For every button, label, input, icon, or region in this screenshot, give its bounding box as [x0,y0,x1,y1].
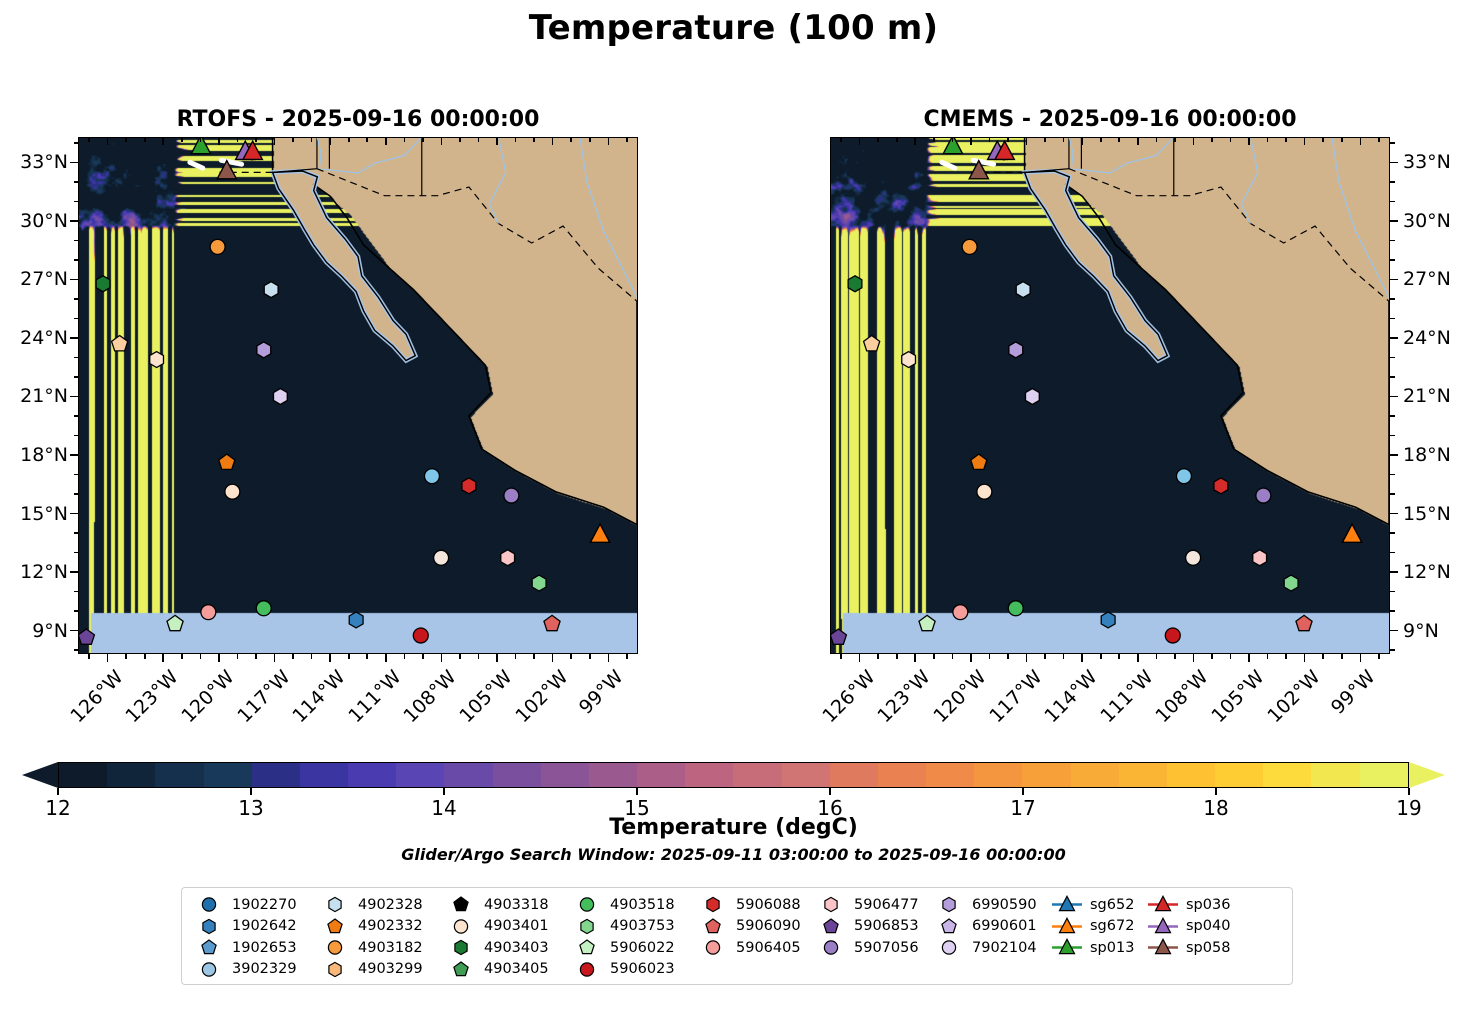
legend-item[interactable]: 1902270 [192,895,318,915]
legend-pentagon-icon [814,917,848,936]
colorbar-segment [974,763,1022,787]
y-tick-label: 24°N [1403,327,1451,349]
colorbar-segment [1167,763,1215,787]
x-tick-minor [311,137,313,142]
colorbar-segment [493,763,541,787]
x-tick-minor [1100,137,1102,142]
y-tick [1390,454,1398,456]
y-tick [70,454,78,456]
x-tick [385,137,387,145]
legend-pentagon-icon [318,917,352,936]
y-tick-minor [74,357,79,359]
legend-hexagon-icon [814,895,848,914]
y-tick [70,513,78,515]
legend-circle-icon [932,938,966,957]
x-tick-minor [570,137,572,142]
colorbar-tick [443,788,445,795]
x-tick [218,654,220,662]
y-tick-minor [1390,376,1395,378]
legend-item-label: sp013 [1090,940,1134,956]
x-tick [1137,137,1139,145]
y-tick-minor [74,181,79,183]
legend-item[interactable]: sg672 [1050,917,1146,937]
colorbar-tick [636,788,638,795]
panel-rtofs: RTOFS - 2025-09-16 00:00:00 [78,137,638,654]
colorbar-label: Temperature (degC) [0,815,1467,840]
legend-item-label: 5906477 [854,897,919,913]
x-tick-minor [1044,654,1046,659]
legend-triangle-line-icon [1050,895,1084,914]
colorbar-segment [252,763,300,787]
y-tick [70,571,78,573]
legend-item[interactable]: 4902328 [318,895,444,915]
y-tick-minor [74,201,79,203]
legend-item[interactable]: 6990601 [932,917,1050,937]
legend-item[interactable]: sp058 [1146,938,1242,958]
colorbar-segment [637,763,685,787]
x-tick [162,137,164,145]
x-tick-minor [1211,137,1213,142]
legend-item-label: 1902642 [232,918,297,934]
y-tick-label: 9°N [1403,620,1439,642]
x-tick-minor [459,137,461,142]
x-tick-minor [589,654,591,659]
legend-item-label: 4903753 [610,918,675,934]
x-tick-minor [292,137,294,142]
y-tick-minor [74,318,79,320]
y-tick [1390,220,1398,222]
legend-item[interactable]: 4903403 [444,938,570,958]
x-tick-minor [348,137,350,142]
colorbar-extend-low-icon [22,762,58,788]
legend-item[interactable]: 5906088 [696,895,814,915]
x-tick-minor [200,654,202,659]
x-tick-minor [1322,654,1324,659]
legend-item[interactable]: 5906022 [570,938,696,958]
x-tick [608,654,610,662]
y-tick-minor [74,298,79,300]
y-tick-label: 33°N [0,151,68,173]
x-tick [552,137,554,145]
legend-hexagon-icon [570,917,604,936]
legend-item[interactable]: 4903753 [570,917,696,937]
x-tick [329,137,331,145]
legend-hexagon-icon [192,917,226,936]
x-tick-minor [1156,654,1158,659]
x-tick-minor [1007,654,1009,659]
legend-item-label: 1902270 [232,897,297,913]
x-tick-minor [478,137,480,142]
x-tick-minor [933,137,935,142]
x-tick-minor [515,654,517,659]
y-tick-minor [1390,240,1395,242]
x-tick-minor [989,137,991,142]
legend: 1902270190264219026533902329490232849023… [181,887,1293,985]
x-tick [329,654,331,662]
y-tick [70,162,78,164]
colorbar-segment [1360,763,1408,787]
y-tick-minor [1390,474,1395,476]
y-tick-minor [74,376,79,378]
y-tick-minor [1390,298,1395,300]
x-tick-minor [181,654,183,659]
colorbar-segment [107,763,155,787]
colorbar-segment [1022,763,1070,787]
x-tick-minor [478,654,480,659]
legend-item-label: 6990601 [972,918,1037,934]
legend-pentagon-icon [696,917,730,936]
x-tick-minor [896,137,898,142]
legend-item[interactable]: 6990590 [932,895,1050,915]
x-tick-minor [1285,137,1287,142]
x-tick [859,137,861,145]
x-tick-minor [533,654,535,659]
y-tick-minor [1390,415,1395,417]
y-tick-minor [74,552,79,554]
x-tick [552,654,554,662]
legend-circle-icon [570,960,604,979]
legend-item[interactable]: 7902104 [932,938,1050,958]
panel-cmems: CMEMS - 2025-09-16 00:00:00 [830,137,1390,654]
legend-item-label: 4903182 [358,940,423,956]
legend-item-label: 4902328 [358,897,423,913]
x-tick-minor [952,137,954,142]
x-tick-minor [237,137,239,142]
y-tick-minor [74,610,79,612]
legend-item-label: 1902653 [232,940,297,956]
legend-item-label: 4903518 [610,897,675,913]
y-tick-minor [74,649,79,651]
legend-circle-icon [570,895,604,914]
y-tick-label: 15°N [0,503,68,525]
colorbar-segment [782,763,830,787]
x-tick-minor [181,137,183,142]
x-tick [914,137,916,145]
legend-item-label: 4903401 [484,918,549,934]
legend-item[interactable]: 4902332 [318,917,444,937]
colorbar-segment [926,763,974,787]
x-tick-minor [1378,137,1380,142]
x-tick [1026,137,1028,145]
x-tick-minor [1044,137,1046,142]
x-tick-minor [144,137,146,142]
legend-item[interactable]: 5906090 [696,917,814,937]
colorbar-tick [57,788,59,795]
legend-item-label: 4902332 [358,918,423,934]
figure-root: Temperature (100 m) RTOFS - 2025-09-16 0… [0,0,1467,1014]
x-tick [1248,137,1250,145]
y-tick-minor [74,142,79,144]
y-tick-minor [1390,142,1395,144]
x-tick-minor [952,654,954,659]
legend-item[interactable]: sp036 [1146,895,1242,915]
colorbar-segment [541,763,589,787]
x-tick-minor [1100,654,1102,659]
y-tick-label: 27°N [0,268,68,290]
colorbar-segment [830,763,878,787]
y-tick-minor [1390,610,1395,612]
x-tick-minor [1211,654,1213,659]
x-tick-minor [1174,654,1176,659]
colorbar-segment [59,763,107,787]
legend-pentagon-icon [932,917,966,936]
x-tick [1026,654,1028,662]
legend-item[interactable]: 1902642 [192,917,318,937]
y-tick-minor [1390,201,1395,203]
y-tick-minor [1390,435,1395,437]
legend-pentagon-icon [444,960,478,979]
y-tick-label: 30°N [0,210,68,232]
x-tick-minor [989,654,991,659]
x-tick [496,654,498,662]
x-tick [1193,654,1195,662]
legend-column: sg652sg672sp013 [1050,895,1146,958]
x-tick [1081,137,1083,145]
y-tick-minor [74,493,79,495]
legend-item-label: 4903403 [484,940,549,956]
legend-circle-icon [192,895,226,914]
colorbar-segment [300,763,348,787]
legend-item[interactable]: 4903401 [444,917,570,937]
x-tick-minor [840,654,842,659]
legend-item[interactable]: 5906853 [814,917,932,937]
colorbar-segment [878,763,926,787]
x-tick-minor [589,137,591,142]
legend-item-label: sg672 [1090,918,1134,934]
y-tick-minor [74,240,79,242]
x-tick [162,654,164,662]
x-tick-minor [366,137,368,142]
legend-item-label: sp040 [1186,918,1230,934]
panel-title-rtofs: RTOFS - 2025-09-16 00:00:00 [78,107,638,132]
legend-column: 699059069906017902104 [932,895,1050,958]
legend-item-label: sg652 [1090,897,1134,913]
x-tick-minor [1341,137,1343,142]
map-rtofs[interactable] [78,137,638,654]
x-tick-minor [877,137,879,142]
y-tick-minor [1390,591,1395,593]
map-cmems[interactable] [830,137,1390,654]
x-tick-minor [200,137,202,142]
legend-item[interactable]: 3902329 [192,960,318,980]
y-tick-label: 24°N [0,327,68,349]
x-tick-minor [1378,654,1380,659]
y-tick [1390,162,1398,164]
legend-pentagon-icon [444,895,478,914]
y-tick [70,630,78,632]
legend-item[interactable]: 5906023 [570,960,696,980]
x-tick-minor [933,654,935,659]
legend-column: 4903518490375359060225906023 [570,895,696,979]
y-tick [1390,279,1398,281]
y-tick [70,337,78,339]
x-tick-minor [125,137,127,142]
legend-item[interactable]: 4903299 [318,960,444,980]
legend-item[interactable]: sg652 [1050,895,1146,915]
y-tick-minor [1390,318,1395,320]
legend-column: 590647759068535907056 [814,895,932,958]
x-tick-minor [840,137,842,142]
y-tick [1390,630,1398,632]
x-tick-minor [459,654,461,659]
x-tick-minor [1156,137,1158,142]
y-tick-label: 30°N [1403,210,1451,232]
x-tick-minor [1267,137,1269,142]
x-tick [218,137,220,145]
colorbar-segment [1263,763,1311,787]
x-tick-minor [88,654,90,659]
panel-title-cmems: CMEMS - 2025-09-16 00:00:00 [830,107,1390,132]
x-tick [1193,137,1195,145]
legend-item-label: 5906853 [854,918,919,934]
colorbar-tick [1022,788,1024,795]
x-tick [1248,654,1250,662]
y-tick-minor [74,591,79,593]
y-tick-label: 33°N [1403,151,1451,173]
x-tick-minor [348,654,350,659]
legend-item-label: 7902104 [972,940,1037,956]
legend-circle-icon [814,938,848,957]
y-tick-minor [74,415,79,417]
colorbar-segment [396,763,444,787]
x-tick [274,654,276,662]
colorbar-segment [733,763,781,787]
legend-item[interactable]: 5906477 [814,895,932,915]
legend-pentagon-icon [192,938,226,957]
legend-item-label: 5906405 [736,940,801,956]
legend-hexagon-icon [318,895,352,914]
x-tick-minor [255,654,257,659]
x-tick-minor [1322,137,1324,142]
y-tick-minor [74,474,79,476]
legend-item-label: 4903299 [358,961,423,977]
legend-item-label: 6990590 [972,897,1037,913]
x-tick-minor [144,654,146,659]
x-tick [608,137,610,145]
x-tick-minor [1118,654,1120,659]
x-tick [1304,654,1306,662]
colorbar-segment [348,763,396,787]
x-tick-minor [1285,654,1287,659]
legend-item-label: 5907056 [854,940,919,956]
colorbar-segment [1071,763,1119,787]
y-tick-label: 18°N [0,444,68,466]
y-tick-minor [1390,259,1395,261]
legend-circle-icon [192,960,226,979]
legend-pentagon-icon [570,938,604,957]
y-tick-label: 9°N [0,620,68,642]
legend-hexagon-icon [696,895,730,914]
x-tick-minor [311,654,313,659]
legend-item[interactable]: 4903518 [570,895,696,915]
map-overlay-rtofs [79,138,637,653]
colorbar: 1213141516171819 [22,762,1445,796]
y-tick-label: 27°N [1403,268,1451,290]
x-tick [441,654,443,662]
y-tick-label: 12°N [0,561,68,583]
legend-hexagon-icon [932,895,966,914]
legend-item[interactable]: 4903405 [444,960,570,980]
legend-item[interactable]: 4903318 [444,895,570,915]
x-tick-minor [404,137,406,142]
x-tick-minor [404,654,406,659]
y-tick-minor [74,259,79,261]
y-tick-label: 15°N [1403,503,1451,525]
y-tick-label: 21°N [0,385,68,407]
x-tick [970,137,972,145]
y-tick [1390,571,1398,573]
x-tick-minor [533,137,535,142]
legend-column: 1902270190264219026533902329 [192,895,318,979]
y-tick [1390,396,1398,398]
x-tick-minor [896,654,898,659]
legend-hexagon-icon [318,960,352,979]
colorbar-segment [204,763,252,787]
colorbar-extend-high-icon [1409,762,1445,788]
legend-item-label: 5906088 [736,897,801,913]
map-overlay-cmems [831,138,1389,653]
legend-item[interactable]: sp013 [1050,938,1146,958]
x-tick-minor [237,654,239,659]
x-tick-minor [570,654,572,659]
legend-item[interactable]: sp040 [1146,917,1242,937]
x-tick [1360,654,1362,662]
x-tick-minor [292,654,294,659]
y-tick-minor [1390,357,1395,359]
y-tick-minor [1390,532,1395,534]
colorbar-segment [444,763,492,787]
x-tick [496,137,498,145]
x-tick [441,137,443,145]
colorbar-tick [829,788,831,795]
x-tick-minor [422,137,424,142]
legend-circle-icon [444,917,478,936]
legend-item-label: 3902329 [232,961,297,977]
legend-column: sp036sp040sp058 [1146,895,1242,958]
legend-item-label: 5906022 [610,940,675,956]
legend-item-label: sp058 [1186,940,1230,956]
x-tick [859,654,861,662]
x-tick-minor [1007,137,1009,142]
y-tick [70,279,78,281]
legend-triangle-line-icon [1146,895,1180,914]
legend-item[interactable]: 5906405 [696,938,814,958]
legend-item[interactable]: 4903182 [318,938,444,958]
legend-item[interactable]: 1902653 [192,938,318,958]
x-tick [1360,137,1362,145]
y-tick [1390,513,1398,515]
legend-hexagon-icon [444,938,478,957]
x-tick-minor [626,654,628,659]
colorbar-tick [1408,788,1410,795]
x-tick [914,654,916,662]
legend-circle-icon [696,938,730,957]
search-window-text: Glider/Argo Search Window: 2025-09-11 03… [0,845,1467,864]
x-tick-minor [255,137,257,142]
x-tick-minor [88,137,90,142]
colorbar-segment [155,763,203,787]
legend-item-label: 5906090 [736,918,801,934]
legend-item-label: 4903318 [484,897,549,913]
x-tick [1081,654,1083,662]
page-title: Temperature (100 m) [0,8,1467,48]
colorbar-gradient [58,762,1409,788]
y-tick-minor [1390,552,1395,554]
legend-column: 590608859060905906405 [696,895,814,958]
legend-item[interactable]: 5907056 [814,938,932,958]
x-tick-minor [626,137,628,142]
legend-triangle-line-icon [1050,917,1084,936]
